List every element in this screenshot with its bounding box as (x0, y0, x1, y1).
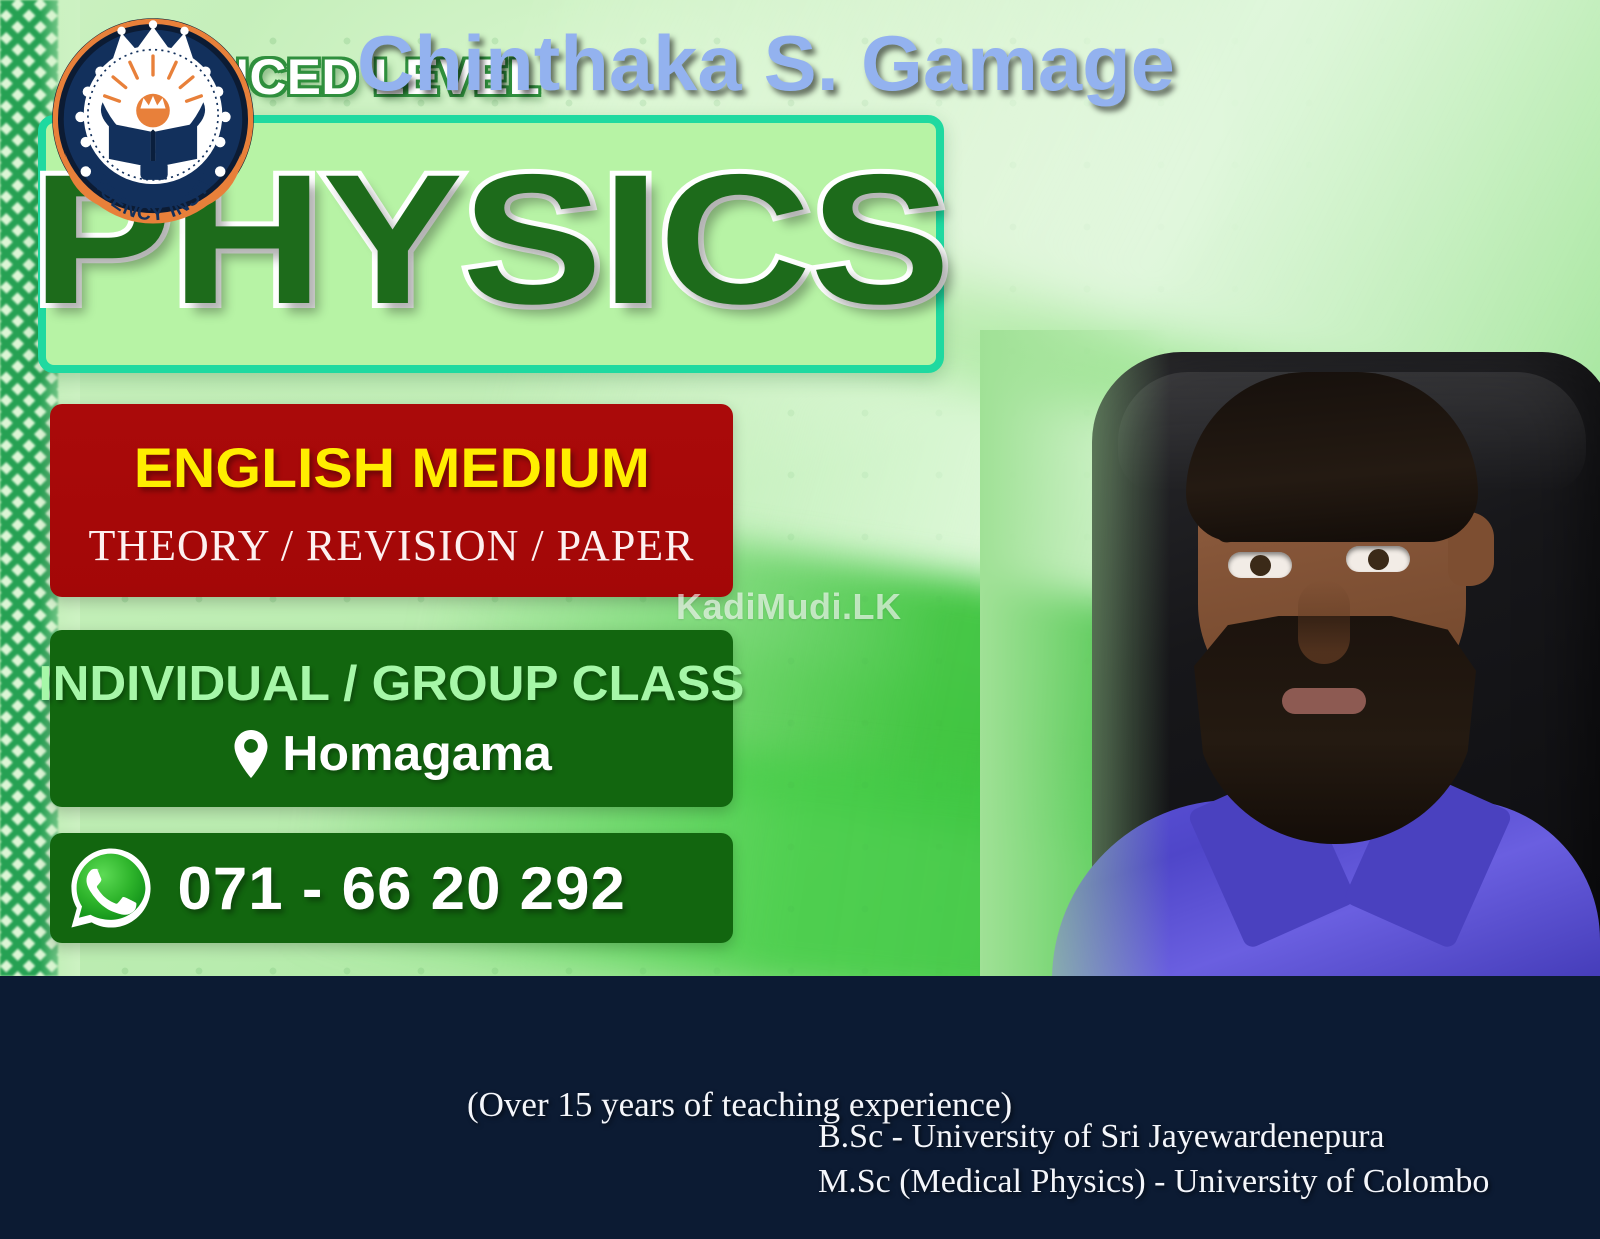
class-type-title: INDIVIDUAL / GROUP CLASS (39, 656, 745, 712)
location-row: Homagama (233, 726, 549, 782)
medium-modes: THEORY / REVISION / PAPER (88, 520, 694, 571)
medium-title: ENGLISH MEDIUM (133, 435, 649, 500)
whatsapp-icon[interactable] (68, 845, 154, 931)
watermark: KadiMudi.LK (676, 586, 901, 628)
my-regency-institute-logo: MY REGENCY INSTITUTE (48, 14, 258, 224)
class-type-box: INDIVIDUAL / GROUP CLASS Homagama (50, 630, 733, 807)
phone-number[interactable]: 071 - 66 20 292 (177, 854, 625, 923)
advertisement-poster: ADVANCED LEVEL PHYSICS ENGLISH MEDIUM TH… (0, 0, 1600, 1239)
eye-right (1346, 546, 1410, 572)
location-name: Homagama (283, 726, 552, 782)
photo-left-fade (980, 330, 1170, 976)
eye-left (1228, 552, 1292, 578)
medium-box: ENGLISH MEDIUM THEORY / REVISION / PAPER (50, 404, 733, 597)
location-pin-icon (233, 730, 269, 778)
teacher-degree-msc: M.Sc (Medical Physics) - University of C… (818, 1163, 1489, 1201)
contact-box[interactable]: 071 - 66 20 292 (50, 833, 733, 943)
teacher-degree-bsc: B.Sc - University of Sri Jayewardenepura (818, 1118, 1385, 1156)
nose (1298, 580, 1350, 664)
teacher-name: Chinthaka S. Gamage (357, 18, 1175, 109)
teacher-photo (980, 330, 1600, 976)
mouth (1282, 688, 1366, 714)
